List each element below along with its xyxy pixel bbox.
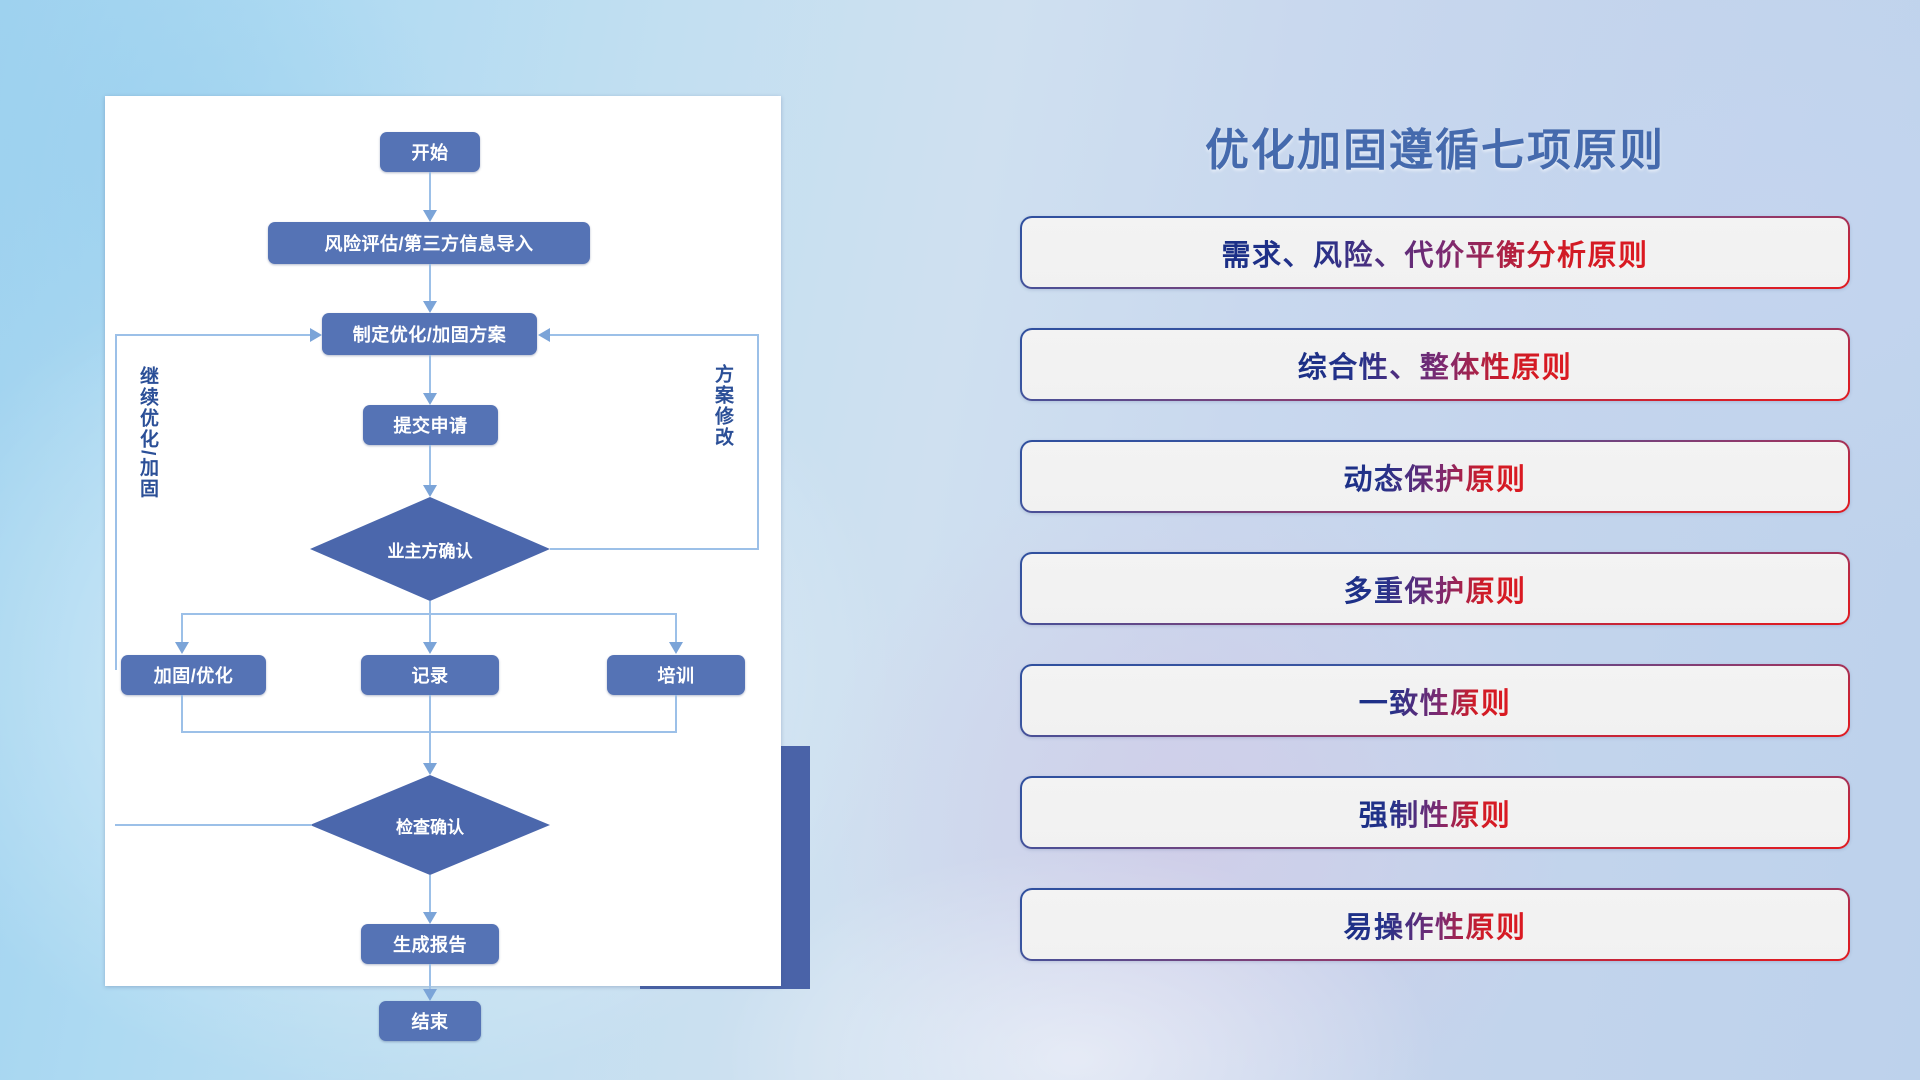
principles-panel: 优化加固遵循七项原则 需求、风险、代价平衡分析原则 综合性、整体性原则 动态保护… [1020, 96, 1850, 996]
flow-node-training[interactable]: 培训 [607, 655, 745, 695]
flow-node-report[interactable]: 生成报告 [361, 924, 499, 964]
edge-plan-to-submit [429, 355, 431, 397]
principle-card-5-label: 一致性原则 [1359, 680, 1512, 722]
edge-start-to-risk [429, 172, 431, 214]
principles-title: 优化加固遵循七项原则 [1020, 114, 1850, 178]
flowchart-card: 开始 风险评估/第三方信息导入 制定优化/加固方案 提交申请 业主方确认 [105, 96, 781, 986]
flow-node-record[interactable]: 记录 [361, 655, 499, 695]
flow-node-start-label: 开始 [412, 139, 449, 165]
edge-left-vertical [115, 334, 117, 670]
edge-left-to-plan [115, 334, 312, 336]
flow-node-training-label: 培训 [658, 662, 695, 688]
principle-card-4[interactable]: 多重保护原则 [1020, 552, 1850, 625]
arrowhead-left-to-plan [310, 328, 322, 342]
edge-submit-to-owner [429, 445, 431, 489]
principle-card-7-label: 易操作性原则 [1343, 904, 1526, 946]
flow-decision-check-label: 检查确认 [396, 813, 464, 838]
edge-merge-left-rise [181, 695, 183, 733]
flow-node-end[interactable]: 结束 [379, 1001, 481, 1041]
edge-risk-to-plan [429, 264, 431, 305]
principle-card-4-label: 多重保护原则 [1343, 568, 1526, 610]
edge-merge-right-rise [675, 695, 677, 733]
principle-card-6-label: 强制性原则 [1359, 792, 1512, 834]
flow-edge-label-plan-revision: 方案修改 [712, 364, 732, 448]
principle-card-2[interactable]: 综合性、整体性原则 [1020, 328, 1850, 401]
arrowhead-submit-to-owner [423, 485, 437, 497]
principle-card-7[interactable]: 易操作性原则 [1020, 888, 1850, 961]
edge-check-to-left-loop [115, 824, 312, 826]
principles-list: 需求、风险、代价平衡分析原则 综合性、整体性原则 动态保护原则 多重保护原则 一… [1020, 216, 1850, 1000]
flow-node-submit-label: 提交申请 [394, 412, 468, 438]
flow-node-risk-assessment[interactable]: 风险评估/第三方信息导入 [268, 222, 590, 264]
arrowhead-plan-to-submit [423, 393, 437, 405]
flow-node-submit[interactable]: 提交申请 [363, 405, 498, 445]
flow-node-reinforce[interactable]: 加固/优化 [121, 655, 266, 695]
flow-decision-check[interactable]: 检查确认 [310, 775, 550, 875]
flow-decision-owner-confirm-label: 业主方确认 [388, 537, 473, 562]
arrowhead-branch-left [175, 642, 189, 654]
principle-card-3[interactable]: 动态保护原则 [1020, 440, 1850, 513]
principle-card-5[interactable]: 一致性原则 [1020, 664, 1850, 737]
flow-node-reinforce-label: 加固/优化 [154, 662, 234, 688]
arrowhead-check-to-report [423, 912, 437, 924]
arrowhead-risk-to-plan [423, 301, 437, 313]
flow-node-plan-label: 制定优化/加固方案 [353, 321, 507, 347]
edge-check-to-report [429, 875, 431, 916]
flow-edge-label-continue-optimize: 继续优化/加固 [137, 366, 157, 499]
principle-card-1-label: 需求、风险、代价平衡分析原则 [1221, 232, 1648, 274]
principle-card-2-label: 综合性、整体性原则 [1298, 344, 1573, 386]
flow-node-end-label: 结束 [412, 1008, 449, 1034]
arrowhead-branch-right [669, 642, 683, 654]
arrowhead-branch-mid [423, 642, 437, 654]
edge-owner-to-right [550, 548, 759, 550]
arrowhead-report-to-end [423, 989, 437, 1001]
edge-right-vertical [757, 334, 759, 549]
arrowhead-start-to-risk [423, 210, 437, 222]
edge-merge-to-check [429, 695, 431, 767]
flow-node-record-label: 记录 [412, 662, 449, 688]
flow-node-risk-assessment-label: 风险评估/第三方信息导入 [325, 230, 534, 256]
flow-node-plan[interactable]: 制定优化/加固方案 [322, 313, 537, 355]
flow-decision-owner-confirm[interactable]: 业主方确认 [310, 497, 550, 601]
flow-node-start[interactable]: 开始 [380, 132, 480, 172]
principle-card-3-label: 动态保护原则 [1343, 456, 1526, 498]
principle-card-6[interactable]: 强制性原则 [1020, 776, 1850, 849]
principle-card-1[interactable]: 需求、风险、代价平衡分析原则 [1020, 216, 1850, 289]
flowchart-diagram: 开始 风险评估/第三方信息导入 制定优化/加固方案 提交申请 业主方确认 [105, 96, 781, 986]
arrowhead-right-to-plan [538, 328, 550, 342]
flow-node-report-label: 生成报告 [393, 931, 467, 957]
edge-right-to-plan [550, 334, 759, 336]
arrowhead-merge-to-check [423, 763, 437, 775]
